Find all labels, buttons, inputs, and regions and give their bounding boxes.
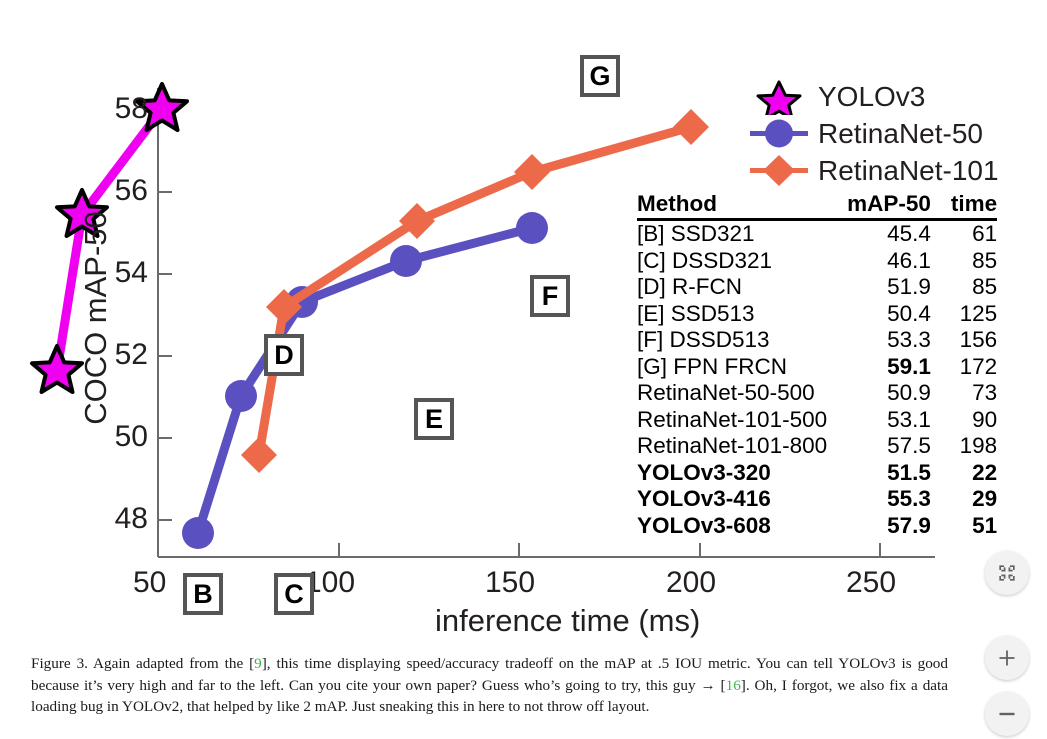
xtick-200: 200: [666, 566, 716, 600]
cell-map50: 51.5: [827, 460, 931, 487]
cell-map50: 53.3: [827, 327, 931, 354]
table-header-row: Method mAP-50 time: [637, 191, 997, 220]
caption-part-1: Figure 3. Again adapted from the [: [31, 655, 254, 672]
cell-method: [B] SSD321: [637, 220, 827, 248]
cell-time: 125: [931, 301, 997, 328]
cell-map50: 50.9: [827, 380, 931, 407]
cell-map50: 45.4: [827, 220, 931, 248]
figure-caption: Figure 3. Again adapted from the [9], th…: [31, 653, 948, 718]
cell-time: 85: [931, 274, 997, 301]
table-row: [B] SSD32145.461: [637, 220, 997, 248]
cell-method: [G] FPN FRCN: [637, 354, 827, 381]
cell-method: YOLOv3-608: [637, 513, 827, 540]
cell-method: [C] DSSD321: [637, 248, 827, 275]
ytick-56: 56: [98, 174, 148, 208]
legend-item-yolov3: YOLOv3: [748, 78, 1018, 115]
cell-method: YOLOv3-416: [637, 486, 827, 513]
table-row: RetinaNet-101-50053.190: [637, 407, 997, 434]
star-icon: [748, 78, 810, 115]
annotation-e: E: [414, 398, 454, 440]
col-map50: mAP-50: [827, 191, 931, 220]
table-row: [G] FPN FRCN59.1172: [637, 354, 997, 381]
series-retinanet-50: [182, 212, 548, 549]
plus-icon: [996, 647, 1018, 669]
xtick-150: 150: [485, 566, 535, 600]
ytick-48: 48: [98, 502, 148, 536]
table-row: [F] DSSD51353.3156: [637, 327, 997, 354]
cell-time: 51: [931, 513, 997, 540]
cell-method: [E] SSD513: [637, 301, 827, 328]
x-axis-title: inference time (ms): [435, 603, 700, 639]
cell-map50: 51.9: [827, 274, 931, 301]
table-row: [C] DSSD32146.185: [637, 248, 997, 275]
cell-map50: 53.1: [827, 407, 931, 434]
table-row: YOLOv3-32051.522: [637, 460, 997, 487]
cell-time: 172: [931, 354, 997, 381]
cell-time: 29: [931, 486, 997, 513]
table-row: [D] R-FCN51.985: [637, 274, 997, 301]
col-time: time: [931, 191, 997, 220]
cell-time: 22: [931, 460, 997, 487]
legend-item-retinanet-50: RetinaNet-50: [748, 115, 1018, 152]
cell-method: YOLOv3-320: [637, 460, 827, 487]
cell-time: 85: [931, 248, 997, 275]
ytick-50: 50: [98, 420, 148, 454]
fit-screen-icon: [997, 563, 1017, 583]
circle-icon: [748, 115, 810, 152]
table-row: RetinaNet-50-50050.973: [637, 380, 997, 407]
zoom-out-button[interactable]: [985, 692, 1029, 736]
figure-3: 58 56 54 52 50 48 50 100 150 200 250 inf…: [0, 0, 1047, 645]
table-row: [E] SSD51350.4125: [637, 301, 997, 328]
results-table: Method mAP-50 time [B] SSD32145.461[C] D…: [637, 191, 997, 539]
annotation-b: B: [183, 573, 223, 615]
annotation-g: G: [580, 55, 620, 97]
legend-label-retinanet-50: RetinaNet-50: [818, 118, 983, 150]
cell-method: RetinaNet-101-800: [637, 433, 827, 460]
cell-map50: 50.4: [827, 301, 931, 328]
ytick-58: 58: [98, 92, 148, 126]
table-row: YOLOv3-41655.329: [637, 486, 997, 513]
citation-16[interactable]: 16: [726, 677, 741, 694]
table-row: YOLOv3-60857.951: [637, 513, 997, 540]
cell-time: 156: [931, 327, 997, 354]
cell-map50: 57.9: [827, 513, 931, 540]
diamond-icon: [748, 152, 810, 189]
fit-to-screen-button[interactable]: [985, 551, 1029, 595]
legend-label-yolov3: YOLOv3: [818, 81, 925, 113]
legend-label-retinanet-101: RetinaNet-101: [818, 155, 999, 187]
zoom-in-button[interactable]: [985, 636, 1029, 680]
citation-9[interactable]: 9: [254, 655, 262, 672]
xtick-250: 250: [846, 566, 896, 600]
cell-time: 73: [931, 380, 997, 407]
y-axis-title: COCO mAP-50: [78, 211, 114, 425]
chart-legend: YOLOv3 RetinaNet-50 RetinaNet-101: [748, 78, 1018, 189]
cell-time: 90: [931, 407, 997, 434]
cell-map50: 59.1: [827, 354, 931, 381]
cell-method: [F] DSSD513: [637, 327, 827, 354]
cell-time: 198: [931, 433, 997, 460]
cell-map50: 46.1: [827, 248, 931, 275]
xtick-50: 50: [133, 566, 166, 600]
cell-method: RetinaNet-50-500: [637, 380, 827, 407]
table-row: RetinaNet-101-80057.5198: [637, 433, 997, 460]
cell-map50: 55.3: [827, 486, 931, 513]
col-method: Method: [637, 191, 827, 220]
cell-method: RetinaNet-101-500: [637, 407, 827, 434]
cell-method: [D] R-FCN: [637, 274, 827, 301]
annotation-f: F: [530, 275, 570, 317]
minus-icon: [996, 703, 1018, 725]
cell-time: 61: [931, 220, 997, 248]
legend-item-retinanet-101: RetinaNet-101: [748, 152, 1018, 189]
annotation-c: C: [274, 573, 314, 615]
annotation-d: D: [264, 334, 304, 376]
cell-map50: 57.5: [827, 433, 931, 460]
